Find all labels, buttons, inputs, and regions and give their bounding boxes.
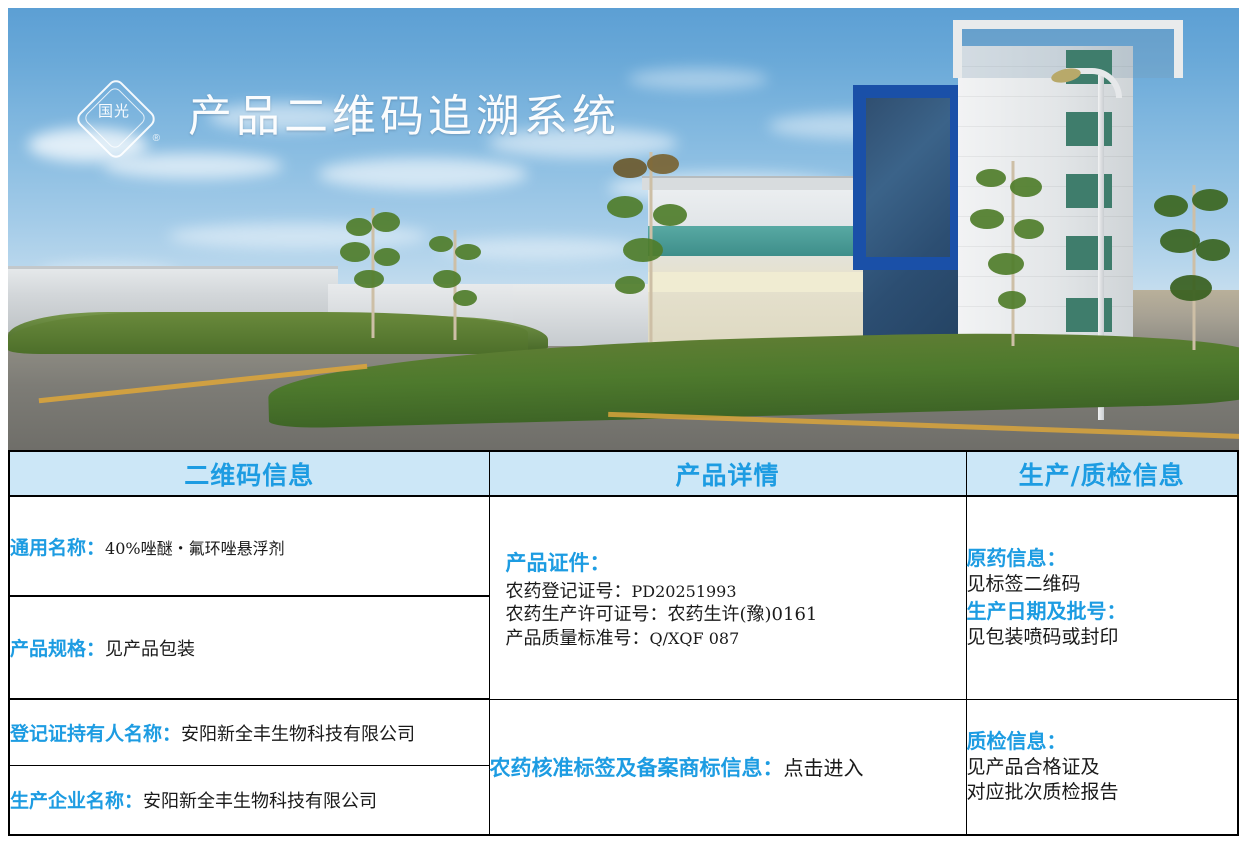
label-registrant: 登记证持有人名称： (10, 723, 181, 745)
factory-photo (8, 8, 1239, 450)
hero-banner: 国光 ® 产品二维码追溯系统 (8, 8, 1239, 450)
blue-frame-structure (853, 85, 963, 270)
tree (968, 161, 1058, 346)
value-registrant: 安阳新全丰生物科技有限公司 (181, 724, 415, 745)
column-header-qrcode-info: 二维码信息 (9, 451, 489, 496)
label-qc-info: 质检信息： (967, 728, 1238, 755)
table-row: 登记证持有人名称：安阳新全丰生物科技有限公司 农药核准标签及备案商标信息：点击进… (9, 699, 1238, 765)
cell-raw-material-and-batch: 原药信息： 见标签二维码 生产日期及批号： 见包装喷码或封印 (966, 496, 1238, 699)
cloud-decoration (628, 68, 768, 90)
label-date-batch: 生产日期及批号： (967, 598, 1238, 625)
label-raw-material: 原药信息： (967, 545, 1238, 572)
label-approved-label-trademark: 农药核准标签及备案商标信息： (490, 756, 784, 780)
certificate-line: 产品质量标准号：Q/XQF 087 (506, 627, 966, 651)
value-qc-line1: 见产品合格证及 (967, 755, 1238, 781)
value-production-license-no: 农药生许(豫)0161 (668, 604, 818, 625)
column-header-production-qc-info: 生产/质检信息 (966, 451, 1238, 496)
cell-common-name: 通用名称：40%唑醚・氟环唑悬浮剂 (9, 496, 489, 596)
value-product-spec: 见产品包装 (105, 639, 195, 660)
value-pesticide-reg-no: PD20251993 (632, 582, 737, 601)
cloud-decoration (318, 158, 528, 190)
registered-mark-icon: ® (153, 133, 160, 144)
table-header-row: 二维码信息 产品详情 生产/质检信息 (9, 451, 1238, 496)
label-common-name: 通用名称： (10, 537, 105, 559)
tree (603, 152, 699, 342)
cloud-decoration (103, 153, 283, 179)
tree (1148, 185, 1239, 350)
value-raw-material: 见标签二维码 (967, 572, 1238, 598)
guoguang-logo-icon: 国光 ® (80, 86, 166, 148)
product-info-table: 二维码信息 产品详情 生产/质检信息 通用名称：40%唑醚・氟环唑悬浮剂 产品证… (8, 450, 1239, 836)
banner-title-group: 国光 ® 产品二维码追溯系统 (80, 86, 620, 148)
value-qc-line2: 对应批次质检报告 (967, 780, 1238, 806)
table-row: 通用名称：40%唑醚・氟环唑悬浮剂 产品证件： 农药登记证号：PD2025199… (9, 496, 1238, 596)
label-certificates-title: 产品证件： (506, 547, 966, 577)
column-header-product-details: 产品详情 (489, 451, 966, 496)
certificate-line: 农药生产许可证号：农药生许(豫)0161 (506, 603, 966, 627)
tree (338, 208, 408, 338)
label-manufacturer: 生产企业名称： (10, 790, 143, 812)
cell-product-spec: 产品规格：见产品包装 (9, 596, 489, 699)
cell-product-certificates: 产品证件： 农药登记证号：PD20251993 农药生产许可证号：农药生许(豫)… (489, 496, 966, 699)
certificate-line: 农药登记证号：PD20251993 (506, 580, 966, 604)
link-enter-trademark-info[interactable]: 点击进入 (784, 756, 864, 780)
value-quality-standard-no: Q/XQF 087 (650, 629, 740, 648)
cell-manufacturer: 生产企业名称：安阳新全丰生物科技有限公司 (9, 765, 489, 835)
label-production-license-no: 农药生产许可证号： (506, 604, 668, 625)
label-product-spec: 产品规格： (10, 638, 105, 660)
cell-label-trademark-link[interactable]: 农药核准标签及备案商标信息：点击进入 (489, 699, 966, 835)
trace-system-page: 国光 ® 产品二维码追溯系统 二维码信息 产品详情 生产/质检信息 通用名称：4… (0, 0, 1247, 855)
value-common-name: 40%唑醚・氟环唑悬浮剂 (105, 539, 285, 558)
cell-registrant: 登记证持有人名称：安阳新全丰生物科技有限公司 (9, 699, 489, 765)
value-date-batch: 见包装喷码或封印 (967, 625, 1238, 651)
value-manufacturer: 安阳新全丰生物科技有限公司 (143, 791, 377, 812)
page-title: 产品二维码追溯系统 (188, 95, 620, 139)
tree (423, 230, 487, 340)
logo-text: 国光 (80, 104, 148, 119)
cell-qc-info: 质检信息： 见产品合格证及 对应批次质检报告 (966, 699, 1238, 835)
label-pesticide-reg-no: 农药登记证号： (506, 581, 632, 602)
label-quality-standard-no: 产品质量标准号： (506, 628, 650, 649)
